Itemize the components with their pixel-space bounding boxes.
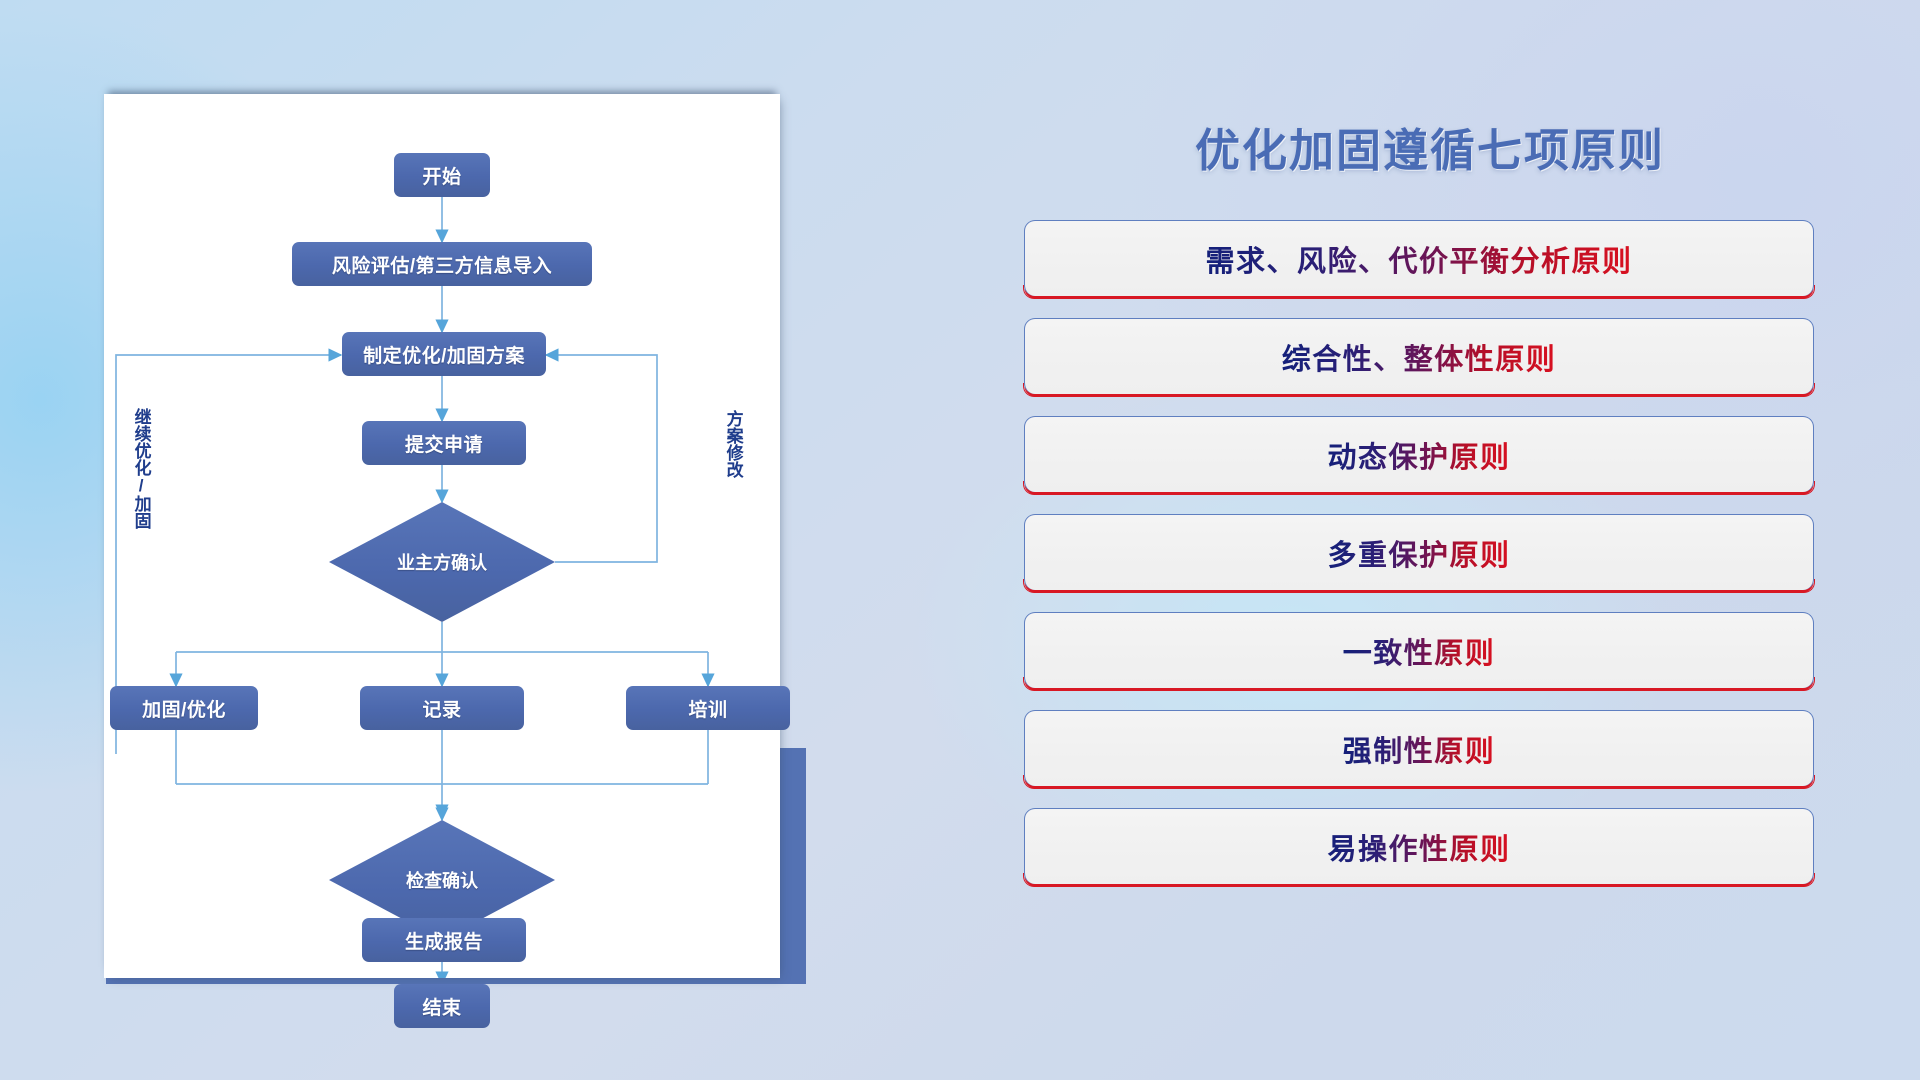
flow-node-label: 制定优化/加固方案 — [363, 341, 525, 368]
flow-node-label: 结束 — [422, 993, 461, 1020]
flow-edge-label-plan-revision: 方案修改 — [724, 410, 742, 478]
principles-title: 优化加固遵循七项原则 — [1020, 114, 1840, 179]
flow-node-label: 检查确认 — [406, 867, 478, 893]
flow-node-label: 生成报告 — [405, 927, 483, 954]
flow-node-label: 培训 — [688, 695, 727, 722]
flow-node-reinforce-optimize[interactable]: 加固/优化 — [110, 686, 258, 730]
flow-node-label: 提交申请 — [405, 430, 483, 457]
slide-root: 开始 风险评估/第三方信息导入 制定优化/加固方案 提交申请 业主方确认 加固/… — [0, 0, 1920, 1080]
principle-label: 易操作性原则 — [1327, 826, 1510, 868]
principle-card[interactable]: 一致性原则 — [1024, 612, 1814, 688]
principle-card[interactable]: 动态保护原则 — [1024, 416, 1814, 492]
principle-card[interactable]: 综合性、整体性原则 — [1024, 318, 1814, 394]
principle-card[interactable]: 多重保护原则 — [1024, 514, 1814, 590]
principle-label: 综合性、整体性原则 — [1282, 336, 1557, 378]
principles-pane: 优化加固遵循七项原则 需求、风险、代价平衡分析原则 综合性、整体性原则 动态保护… — [1020, 100, 1840, 1020]
flow-node-record[interactable]: 记录 — [360, 686, 524, 730]
flow-node-label: 业主方确认 — [397, 549, 487, 575]
principle-label: 多重保护原则 — [1327, 532, 1510, 574]
flow-node-risk-assessment[interactable]: 风险评估/第三方信息导入 — [292, 242, 592, 286]
flowchart-card: 开始 风险评估/第三方信息导入 制定优化/加固方案 提交申请 业主方确认 加固/… — [104, 94, 780, 978]
flow-node-label: 风险评估/第三方信息导入 — [332, 251, 552, 278]
flow-edge-label-continue-optimize: 继续优化/加固 — [132, 408, 150, 529]
flow-node-end[interactable]: 结束 — [394, 984, 490, 1028]
flow-node-start[interactable]: 开始 — [394, 153, 490, 197]
principle-card[interactable]: 易操作性原则 — [1024, 808, 1814, 884]
principle-label: 动态保护原则 — [1327, 434, 1510, 476]
principles-list: 需求、风险、代价平衡分析原则 综合性、整体性原则 动态保护原则 多重保护原则 一… — [1024, 220, 1814, 906]
flow-node-owner-confirm[interactable]: 业主方确认 — [329, 502, 555, 622]
principle-label: 强制性原则 — [1343, 728, 1496, 770]
principle-card[interactable]: 需求、风险、代价平衡分析原则 — [1024, 220, 1814, 296]
flow-node-make-plan[interactable]: 制定优化/加固方案 — [342, 332, 546, 376]
flow-node-generate-report[interactable]: 生成报告 — [362, 918, 526, 962]
principle-label: 需求、风险、代价平衡分析原则 — [1205, 238, 1632, 280]
principle-label: 一致性原则 — [1343, 630, 1496, 672]
flow-node-label: 记录 — [422, 695, 461, 722]
flow-node-training[interactable]: 培训 — [626, 686, 790, 730]
principle-card[interactable]: 强制性原则 — [1024, 710, 1814, 786]
flow-node-label: 加固/优化 — [142, 695, 226, 722]
flow-node-submit-application[interactable]: 提交申请 — [362, 421, 526, 465]
flow-node-label: 开始 — [422, 162, 461, 189]
